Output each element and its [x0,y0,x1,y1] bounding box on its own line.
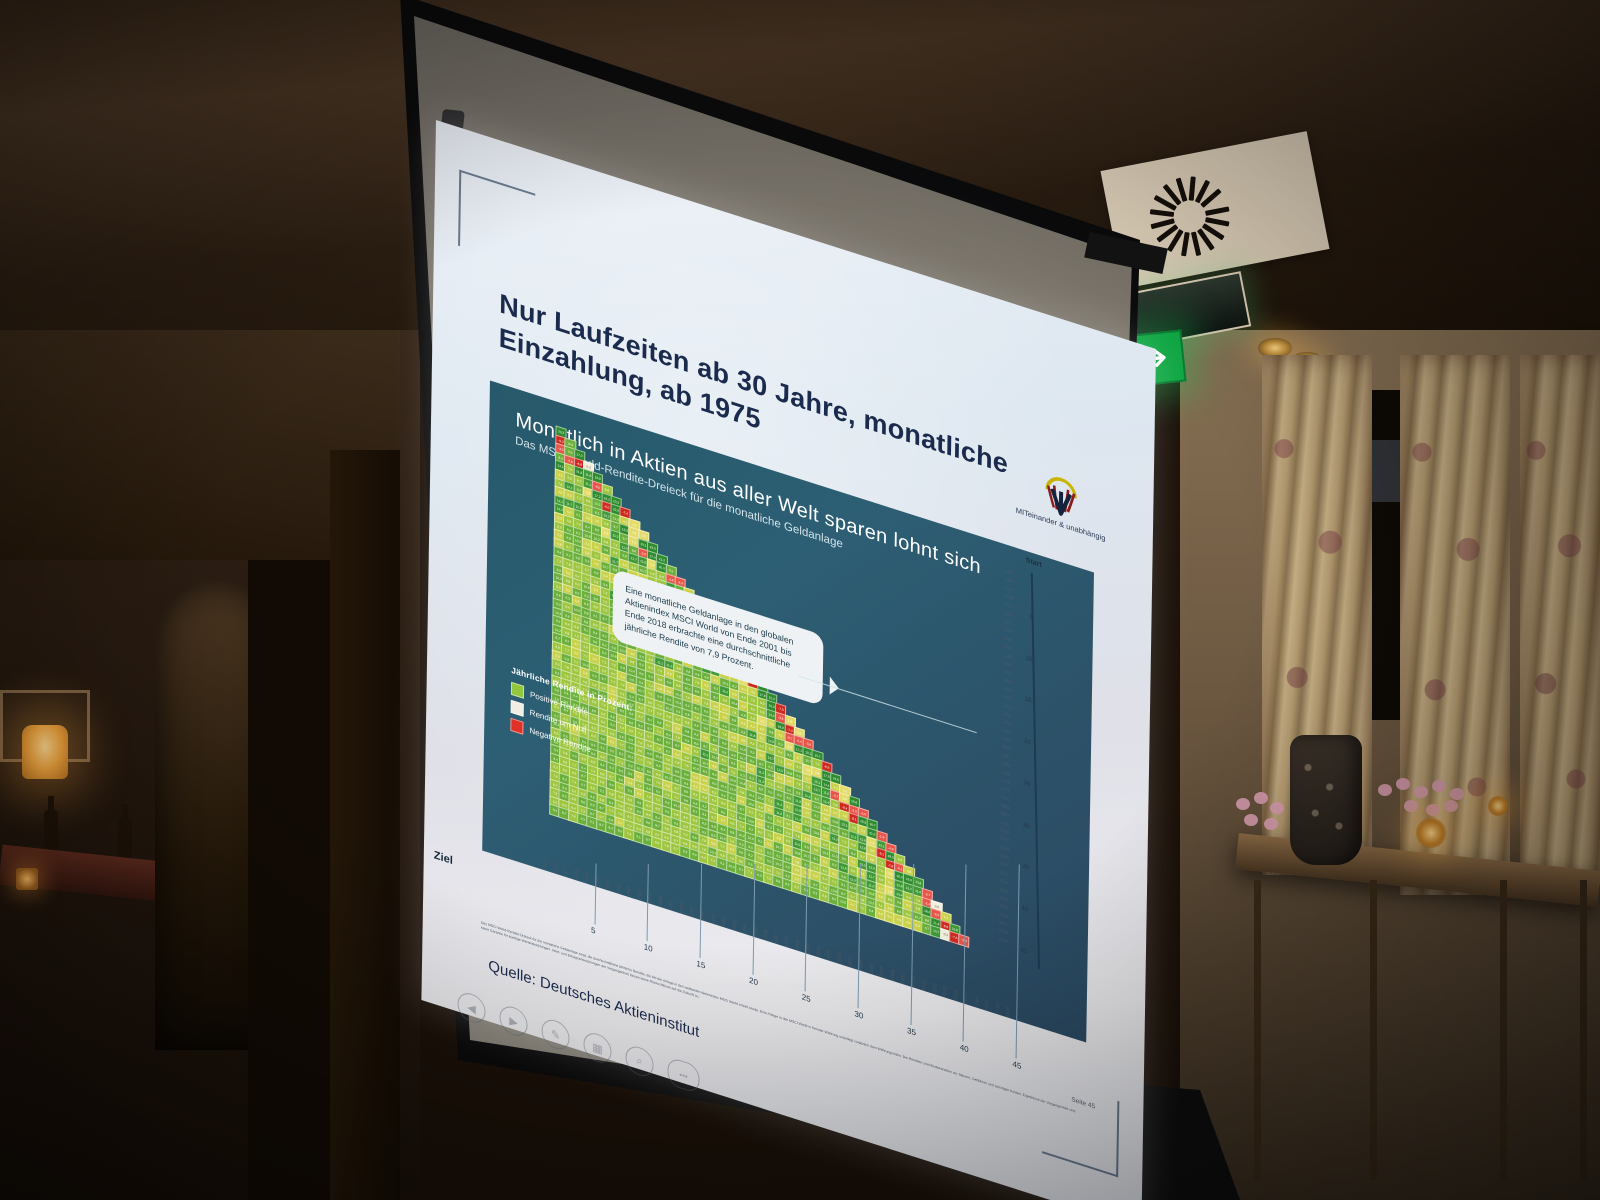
y-tick-year: 2003 [1001,802,1010,810]
x-tick-year: 1998 [784,935,790,948]
x-tick-number: 5 [591,925,596,935]
y-tick-year: 1988 [1003,677,1012,685]
x-tick-year: 2018 [995,1002,1001,1015]
x-tick-year: 1987 [669,899,675,912]
x-tick-year: 2011 [921,979,927,992]
x-tick-number: 45 [1012,1059,1021,1071]
x-tick-number: 15 [696,959,705,971]
y-tick-year: 1995 [1002,735,1011,743]
x-tick-year: 2002 [827,949,833,962]
x-tick-year: 1976 [553,862,559,875]
y-tick-year: 1986 [1003,660,1012,668]
y-tick-year: 2001 [1001,785,1010,793]
x-tick-year: 1994 [742,922,748,935]
y-tick-year: 1993 [1002,719,1011,727]
y-tick-label: 25 [1023,780,1030,788]
x-tick-year: 1982 [616,882,622,895]
candle-2 [1488,796,1508,816]
y-tick-year: 1978 [1004,593,1013,601]
x-tick-year: 1993 [732,919,738,932]
x-tick-number: 30 [854,1009,863,1021]
y-tick-year: 2019 [998,936,1007,944]
x-tick-year: 2017 [985,999,991,1012]
x-tick-number: 25 [802,992,811,1004]
y-axis-start-label: Start [1026,557,1042,569]
table-lamp [22,725,68,779]
candle-1 [1416,818,1446,848]
x-tick-year: 1983 [626,885,632,898]
y-tick-year: 1984 [1003,643,1012,651]
x-tick-number: 40 [960,1043,969,1055]
x-tick-year: 2006 [869,962,875,975]
y-tick-label: 20 [1024,738,1031,746]
y-tick-label: 5 [1030,614,1033,621]
y-axis-label: Spardauer in Jahren [1093,664,1094,777]
x-tick-year: 2004 [848,956,854,969]
x-tick-year: 1997 [774,932,780,945]
y-tick-year: 2005 [1000,819,1009,827]
x-tick-number: 10 [644,942,653,954]
y-tick-year: 1981 [1004,618,1013,626]
y-axis-ticks: 5101520253035404519751976197719781979198… [983,563,1035,968]
y-tick-year: 1990 [1003,694,1012,702]
y-tick-year: 1976 [1004,577,1013,585]
x-axis-label: Ziel [434,849,453,867]
x-tick-year: 2001 [816,945,822,958]
x-tick-year: 1984 [637,889,643,902]
x-tick-year: 1975 [542,858,548,871]
x-tick-year: 1981 [605,878,611,891]
table-legs [1250,880,1590,1180]
y-tick-label: 10 [1025,655,1032,663]
x-tick-year: 2013 [942,986,948,999]
photo-of-projected-slide: Nur Laufzeiten ab 30 Jahre, monatliche E… [0,0,1600,1200]
tealight-candle [16,868,38,890]
x-tick-year: 1988 [679,902,685,915]
y-tick-year: 2013 [999,886,1008,894]
x-tick-number: 20 [749,976,758,988]
y-tick-year: 1997 [1002,752,1011,760]
x-tick-year: 2003 [837,952,843,965]
x-tick-year: 2007 [879,966,885,979]
y-tick-year: 1991 [1002,702,1011,710]
x-tick-year: 1989 [690,905,696,918]
y-tick-year: 2016 [999,911,1008,919]
y-tick-year: 2015 [999,902,1008,910]
y-tick-year: 2018 [999,928,1008,936]
x-tick-year: 2012 [932,982,938,995]
y-tick-year: 1977 [1004,585,1013,593]
x-tick-year: 2014 [953,989,959,1002]
y-tick-label: 35 [1022,864,1029,872]
y-tick-year: 2006 [1000,827,1009,835]
x-tick-number: 35 [907,1026,916,1038]
x-tick-year: 1992 [721,915,727,928]
y-tick-year: 1985 [1003,652,1012,660]
x-tick-year: 2019 [1006,1006,1012,1019]
y-tick-year: 1992 [1002,710,1011,718]
y-tick-year: 1996 [1002,744,1011,752]
x-tick-year: 1986 [658,895,664,908]
flower-arrangement-left [1230,790,1340,850]
curtain-right [1520,355,1600,885]
y-tick-year: 1999 [1001,769,1010,777]
y-tick-year: 1979 [1004,602,1013,610]
x-tick-year: 1978 [574,868,580,881]
y-tick-year: 1989 [1003,685,1012,693]
y-tick-year: 2014 [999,894,1008,902]
y-tick-year: 1998 [1001,760,1010,768]
y-tick-year: 2000 [1001,777,1010,785]
y-tick-year: 2008 [1000,844,1009,852]
x-tick-leader [594,864,596,925]
y-tick-year: 2004 [1001,811,1010,819]
y-tick-year: 2011 [1000,869,1009,877]
y-tick-year: 1975 [1005,568,1014,576]
y-tick-year: 2010 [1000,861,1009,869]
y-tick-year: 1980 [1004,610,1013,618]
x-tick-year: 1996 [763,929,769,942]
y-tick-year: 1983 [1003,635,1012,643]
y-tick-year: 1982 [1004,627,1013,635]
y-tick-label: 15 [1025,697,1032,705]
legend-swatch-negative [510,718,523,735]
x-tick-year: 1991 [711,912,717,925]
y-tick-label: 30 [1023,822,1030,830]
y-tick-year: 2017 [999,919,1008,927]
y-tick-label: 40 [1021,906,1028,914]
x-tick-year: 2008 [890,969,896,982]
y-tick-year: 2009 [1000,852,1009,860]
y-tick-year: 1987 [1003,669,1012,677]
y-tick-year: 1994 [1002,727,1011,735]
x-tick-year: 2009 [900,972,906,985]
y-tick-year: 2007 [1000,836,1009,844]
legend-swatch-neutral [511,700,524,717]
x-tick-year: 1999 [795,939,801,952]
x-tick-year: 2016 [974,996,980,1009]
y-tick-year: 2002 [1001,794,1010,802]
legend-swatch-positive [511,682,524,699]
slide-corner-bracket-top-left [458,170,535,270]
y-tick-label: 45 [1021,947,1028,955]
y-tick-year: 2012 [999,877,1008,885]
x-tick-year: 1979 [584,872,590,885]
x-tick-year: 1977 [563,865,569,878]
